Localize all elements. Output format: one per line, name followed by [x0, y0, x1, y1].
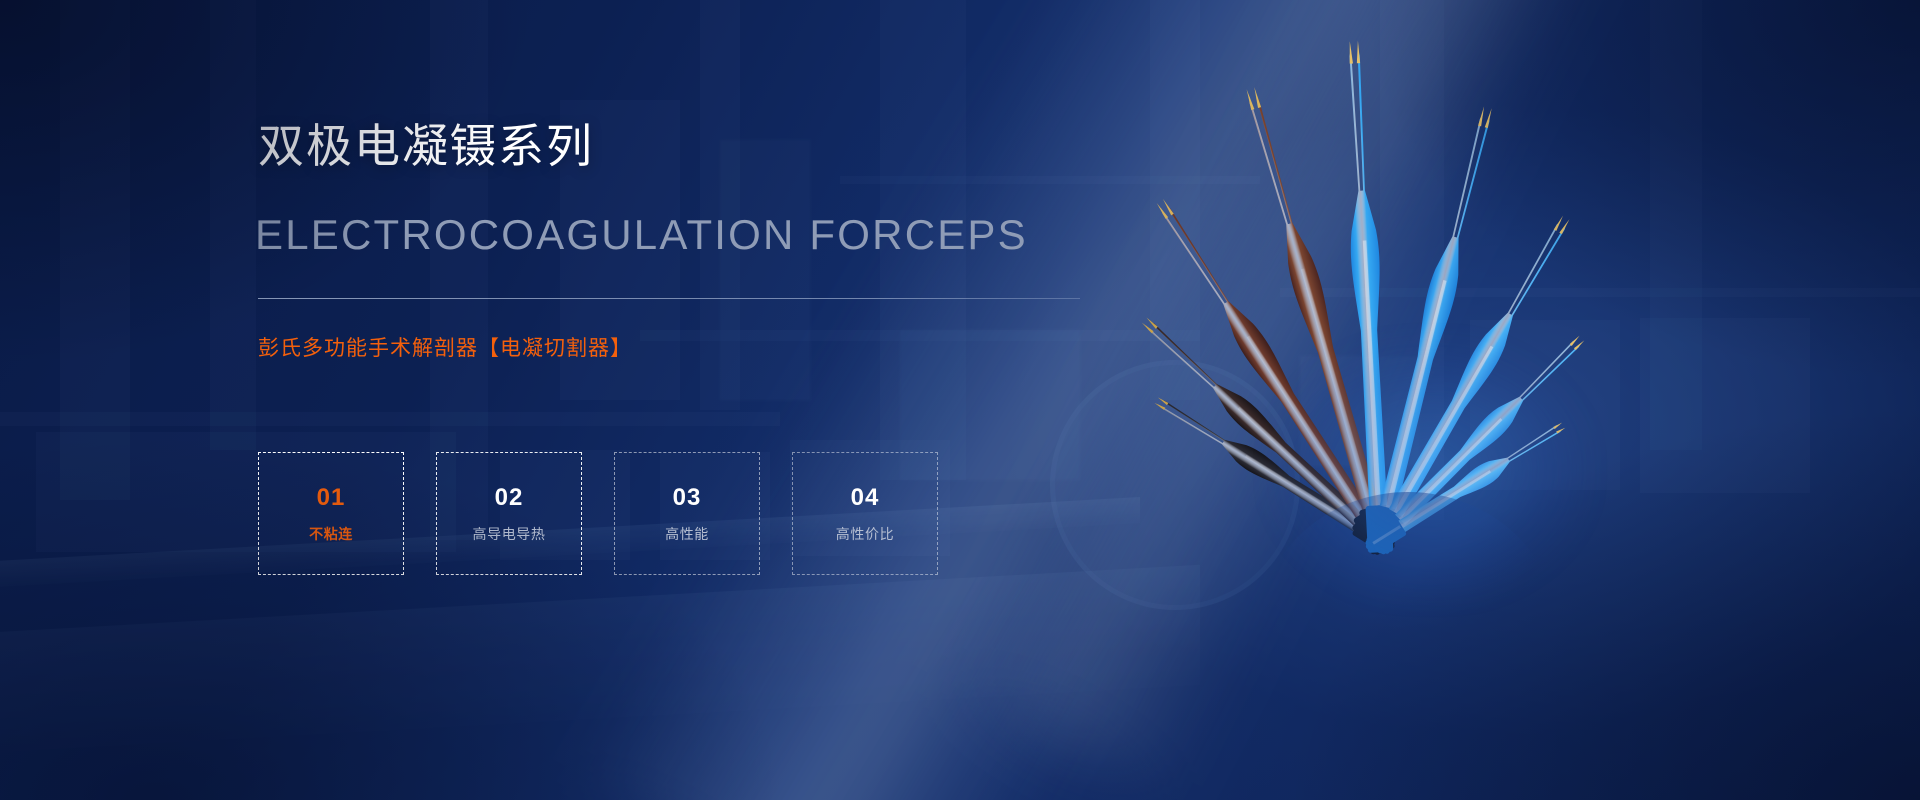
forceps-gold-tip [1485, 108, 1493, 128]
forceps-gold-tip [1356, 41, 1360, 64]
forceps-gold-tip [1478, 106, 1486, 126]
banner-content: 双极电凝镊系列 ELECTROCOAGULATION FORCEPS 彭氏多功能… [258, 0, 1118, 800]
forceps-7 [1363, 211, 1577, 556]
forceps-gold-tip [1349, 41, 1353, 64]
feature-label: 不粘连 [309, 527, 353, 541]
feature-card-03[interactable]: 03 高性能 [614, 452, 760, 575]
feature-label: 高性价比 [836, 527, 894, 541]
feature-number: 01 [317, 486, 346, 510]
forceps-gold-tip [1245, 89, 1254, 110]
forceps-gold-tip [1553, 422, 1563, 429]
forceps-gold-tip [1157, 397, 1168, 405]
forceps-illustration [1080, 40, 1700, 600]
page-subtitle: ELECTROCOAGULATION FORCEPS [255, 214, 1028, 256]
product-tagline: 彭氏多功能手术解剖器【电凝切割器】 [258, 338, 632, 359]
feature-label: 高导电导热 [473, 527, 546, 541]
feature-card-02[interactable]: 02 高导电导热 [436, 452, 582, 575]
feature-number: 03 [673, 486, 702, 510]
feature-card-01[interactable]: 01 不粘连 [258, 452, 404, 575]
feature-number: 02 [495, 486, 524, 510]
feature-number: 04 [851, 486, 880, 510]
forceps-gold-tip [1570, 335, 1581, 346]
forceps-gold-tip [1252, 87, 1261, 108]
banner-stage: 双极电凝镊系列 ELECTROCOAGULATION FORCEPS 彭氏多功能… [0, 0, 1920, 800]
forceps-gold-tip [1559, 218, 1570, 234]
forceps-gold-tip [1154, 401, 1165, 409]
page-title: 双极电凝镊系列 [258, 120, 594, 173]
feature-list: 01 不粘连 02 高导电导热 03 高性能 04 高性价比 [258, 452, 938, 575]
divider [258, 298, 1080, 299]
feature-label: 高性能 [665, 527, 709, 541]
forceps-gold-tip [1556, 426, 1566, 433]
feature-card-04[interactable]: 04 高性价比 [792, 452, 938, 575]
product-image-forceps-fan [1080, 40, 1700, 600]
